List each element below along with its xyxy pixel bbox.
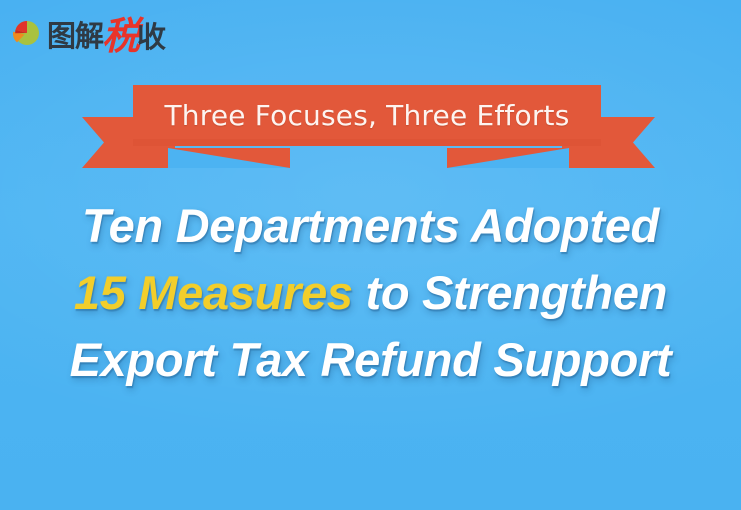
- pie-chart-icon: [10, 17, 42, 49]
- logo-text-part3: 收: [137, 23, 165, 52]
- ribbon-left-fold-notch: [168, 148, 290, 168]
- ribbon-right-fold-notch: [447, 148, 569, 168]
- site-logo[interactable]: 图解 税 收: [10, 9, 165, 57]
- ribbon-label: Three Focuses, Three Efforts: [133, 85, 601, 146]
- headline-line-1: Ten Departments Adopted: [0, 192, 741, 259]
- ribbon-left-fold: [168, 148, 290, 168]
- headline-line-2-rest: to Strengthen: [353, 266, 667, 319]
- headline-block: Ten Departments Adopted 15 Measures to S…: [0, 192, 741, 393]
- logo-text-part2: 税: [102, 17, 138, 55]
- infographic-cover: 图解 税 收 Three Focuses, Three Efforts Ten …: [0, 0, 741, 510]
- logo-text-part1: 图解: [47, 22, 103, 51]
- ribbon-label-text: Three Focuses, Three Efforts: [165, 99, 570, 132]
- logo-wordmark: 图解 税 收: [47, 14, 165, 52]
- headline-accent-measures: 15 Measures: [74, 266, 353, 319]
- headline-line-2: 15 Measures to Strengthen: [0, 259, 741, 326]
- headline-line-3: Export Tax Refund Support: [0, 326, 741, 393]
- ribbon-right-fold: [447, 148, 569, 168]
